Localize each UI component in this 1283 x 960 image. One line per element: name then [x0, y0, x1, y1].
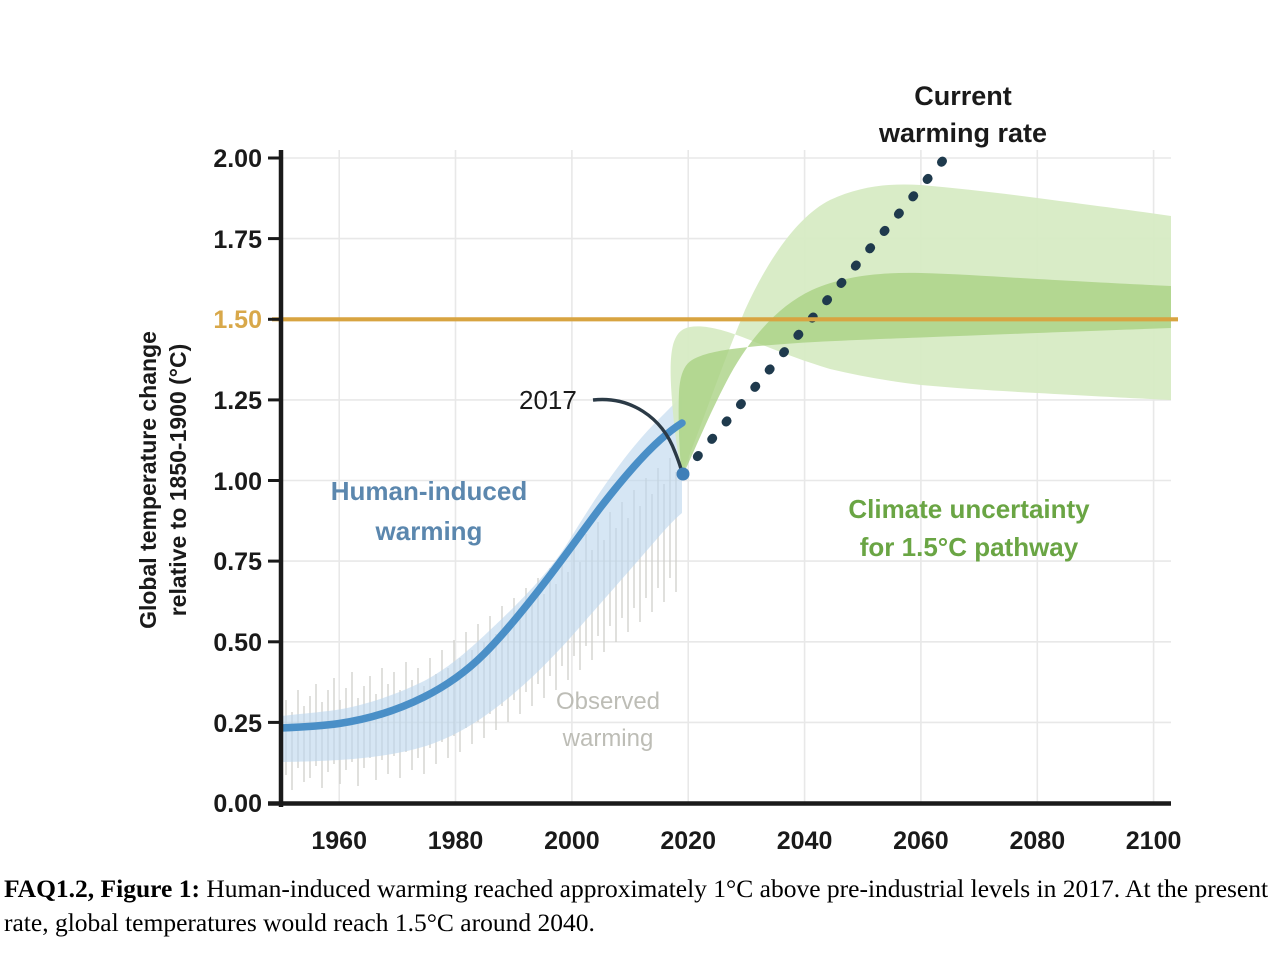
annotation-current-warming-rate-line1: Current: [914, 81, 1012, 111]
ytick-label-1.50: 1.50: [213, 306, 262, 334]
xtick-label-2040: 2040: [777, 827, 833, 855]
annotation-human-induced-warming-line2: warming: [375, 516, 483, 546]
annotation-observed-warming-line2: warming: [562, 725, 654, 752]
y-axis-title-line1: Global temperature change: [135, 331, 161, 629]
xtick-label-2000: 2000: [544, 827, 600, 855]
annotation-year-endpoint-dot: [677, 468, 690, 481]
ytick-label-1.75: 1.75: [213, 226, 262, 254]
annotation-human-induced-warming-line1: Human-induced: [331, 476, 527, 506]
ytick-label-0.25: 0.25: [213, 710, 262, 738]
ytick-label-2.00: 2.00: [213, 145, 262, 173]
ytick-label-1.25: 1.25: [213, 387, 262, 415]
annotation-climate-uncertainty-line1: Climate uncertainty: [848, 494, 1090, 524]
annotation-climate-uncertainty-line2: for 1.5°C pathway: [860, 532, 1079, 562]
ytick-label-0.75: 0.75: [213, 548, 262, 576]
xtick-label-1960: 1960: [311, 827, 367, 855]
xtick-label-2100: 2100: [1126, 827, 1182, 855]
y-axis-title-line2: relative to 1850-1900 (°C): [165, 344, 191, 617]
annotation-year-2017: 2017: [519, 385, 577, 415]
annotation-observed-warming-line1: Observed: [556, 688, 660, 715]
xtick-label-1980: 1980: [428, 827, 484, 855]
figure-root: 2.00 1.75 1.50 1.25 1.00 0.75 0.50 0.25 …: [0, 0, 1283, 960]
figure-caption: FAQ1.2, Figure 1: Human-induced warming …: [4, 872, 1279, 939]
chart-plot-area: 2.00 1.75 1.50 1.25 1.00 0.75 0.50 0.25 …: [0, 0, 1283, 868]
climate-warming-chart: 2.00 1.75 1.50 1.25 1.00 0.75 0.50 0.25 …: [0, 0, 1283, 868]
caption-lead: FAQ1.2, Figure 1:: [4, 874, 200, 903]
xtick-label-2060: 2060: [893, 827, 949, 855]
ytick-label-1.00: 1.00: [213, 468, 262, 496]
xtick-label-2020: 2020: [660, 827, 716, 855]
ytick-label-0.00: 0.00: [213, 790, 262, 818]
xtick-label-2080: 2080: [1009, 827, 1065, 855]
annotation-current-warming-rate-line2: warming rate: [878, 118, 1047, 148]
ytick-label-0.50: 0.50: [213, 629, 262, 657]
